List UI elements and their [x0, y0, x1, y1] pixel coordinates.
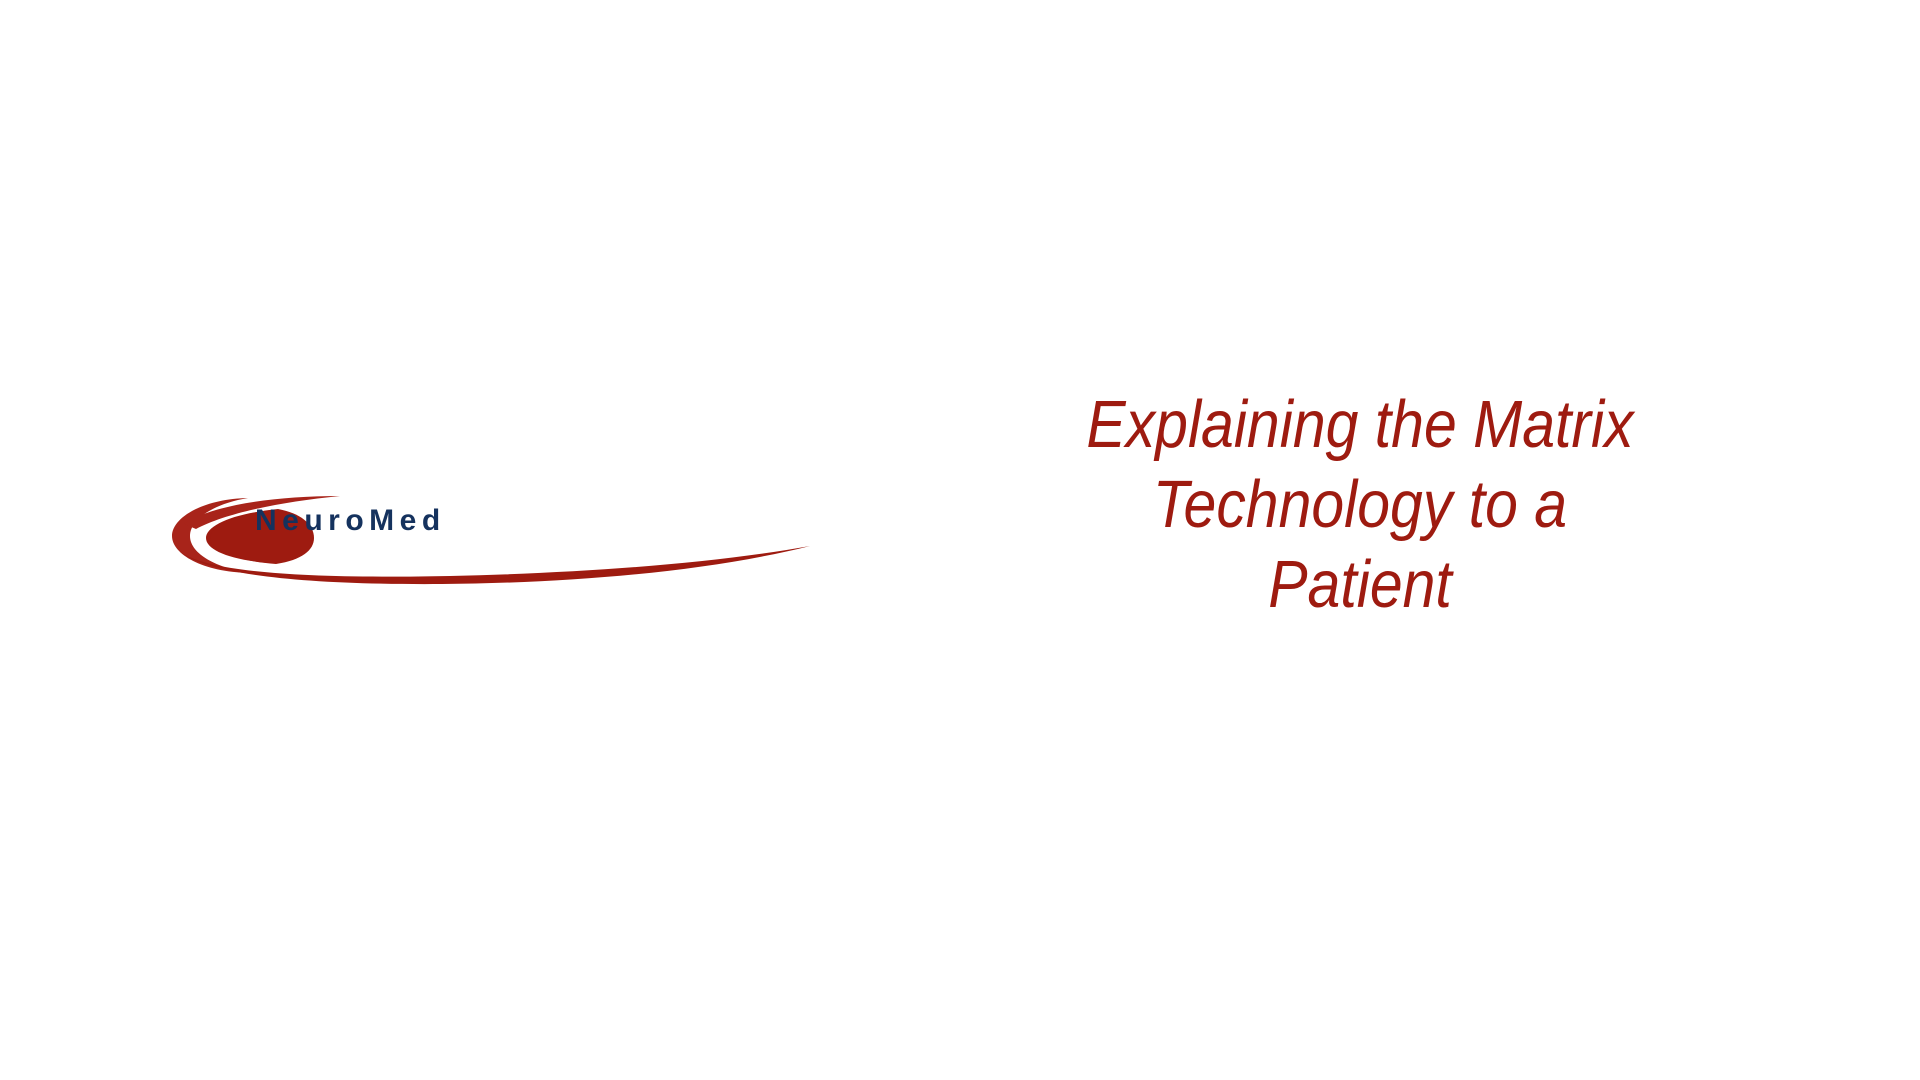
slide-title: Explaining the Matrix Technology to a Pa… [930, 385, 1790, 625]
presentation-slide: NeuroMed Explaining the Matrix Technolog… [0, 0, 1920, 1080]
neuromed-wordmark: NeuroMed [255, 506, 446, 536]
logo-swoosh-graphic [150, 480, 830, 590]
title-line-2: Technology to a [982, 465, 1739, 545]
title-line-1: Explaining the Matrix [982, 385, 1739, 465]
neuromed-logo: NeuroMed [150, 480, 830, 590]
title-line-3: Patient [982, 545, 1739, 625]
